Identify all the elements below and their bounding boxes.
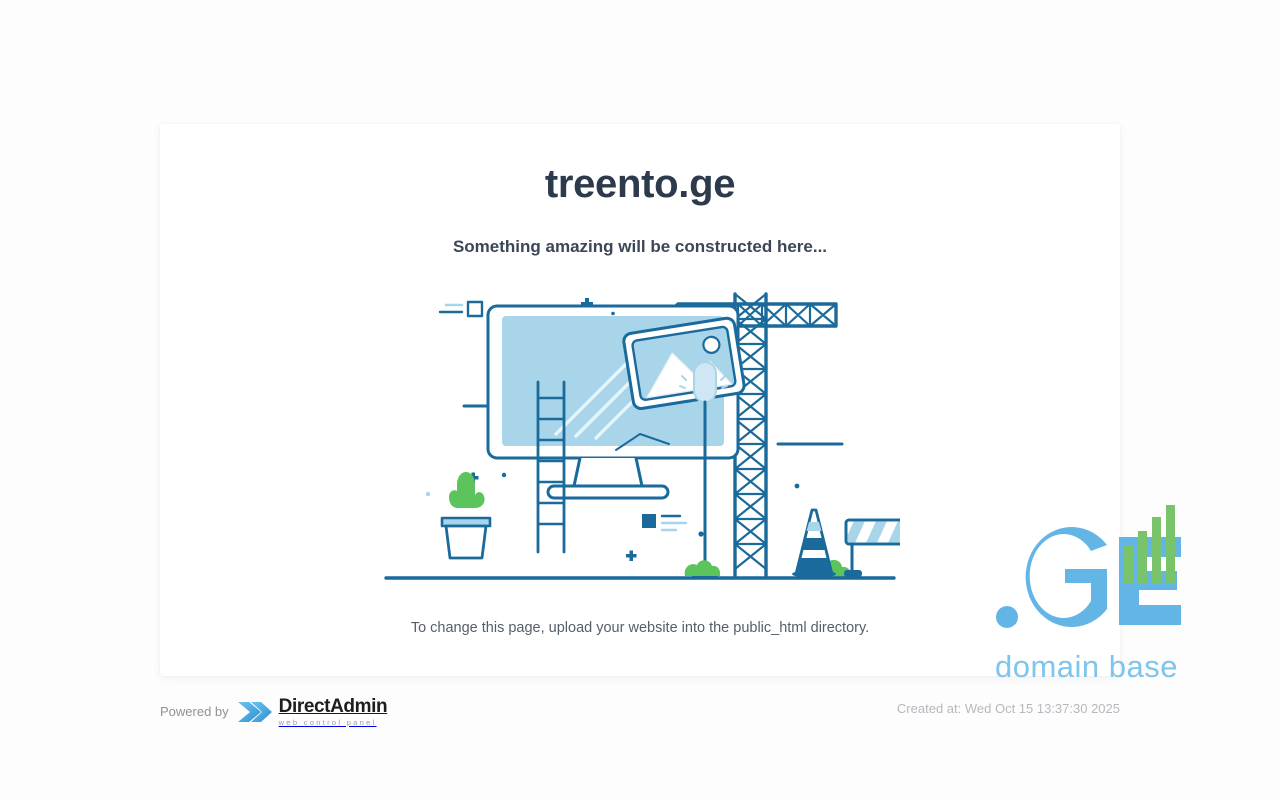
directadmin-brand-tagline: web control panel bbox=[279, 719, 388, 727]
powered-by-block: Powered by DirectAdmin web control panel bbox=[160, 697, 387, 727]
page-root: treento.ge Something amazing will be con… bbox=[0, 0, 1280, 800]
page-title: treento.ge bbox=[160, 162, 1120, 207]
double-chevron-icon bbox=[237, 699, 273, 725]
upload-instructions: To change this page, upload your website… bbox=[160, 620, 1120, 636]
ge-domain-base-logo: domain base bbox=[995, 505, 1195, 700]
directadmin-wordmark: DirectAdmin web control panel bbox=[279, 697, 388, 727]
page-subtitle: Something amazing will be constructed he… bbox=[160, 237, 1120, 257]
created-at-timestamp: Created at: Wed Oct 15 13:37:30 2025 bbox=[897, 701, 1120, 716]
directadmin-logo-link[interactable]: DirectAdmin web control panel bbox=[237, 697, 388, 727]
ge-mark-icon bbox=[995, 505, 1195, 645]
under-construction-illustration bbox=[380, 264, 900, 594]
ge-logo-tagline: domain base bbox=[995, 649, 1195, 685]
directadmin-brand-name: DirectAdmin bbox=[279, 697, 388, 716]
content-card: treento.ge Something amazing will be con… bbox=[160, 124, 1120, 676]
powered-by-label: Powered by bbox=[160, 704, 229, 719]
